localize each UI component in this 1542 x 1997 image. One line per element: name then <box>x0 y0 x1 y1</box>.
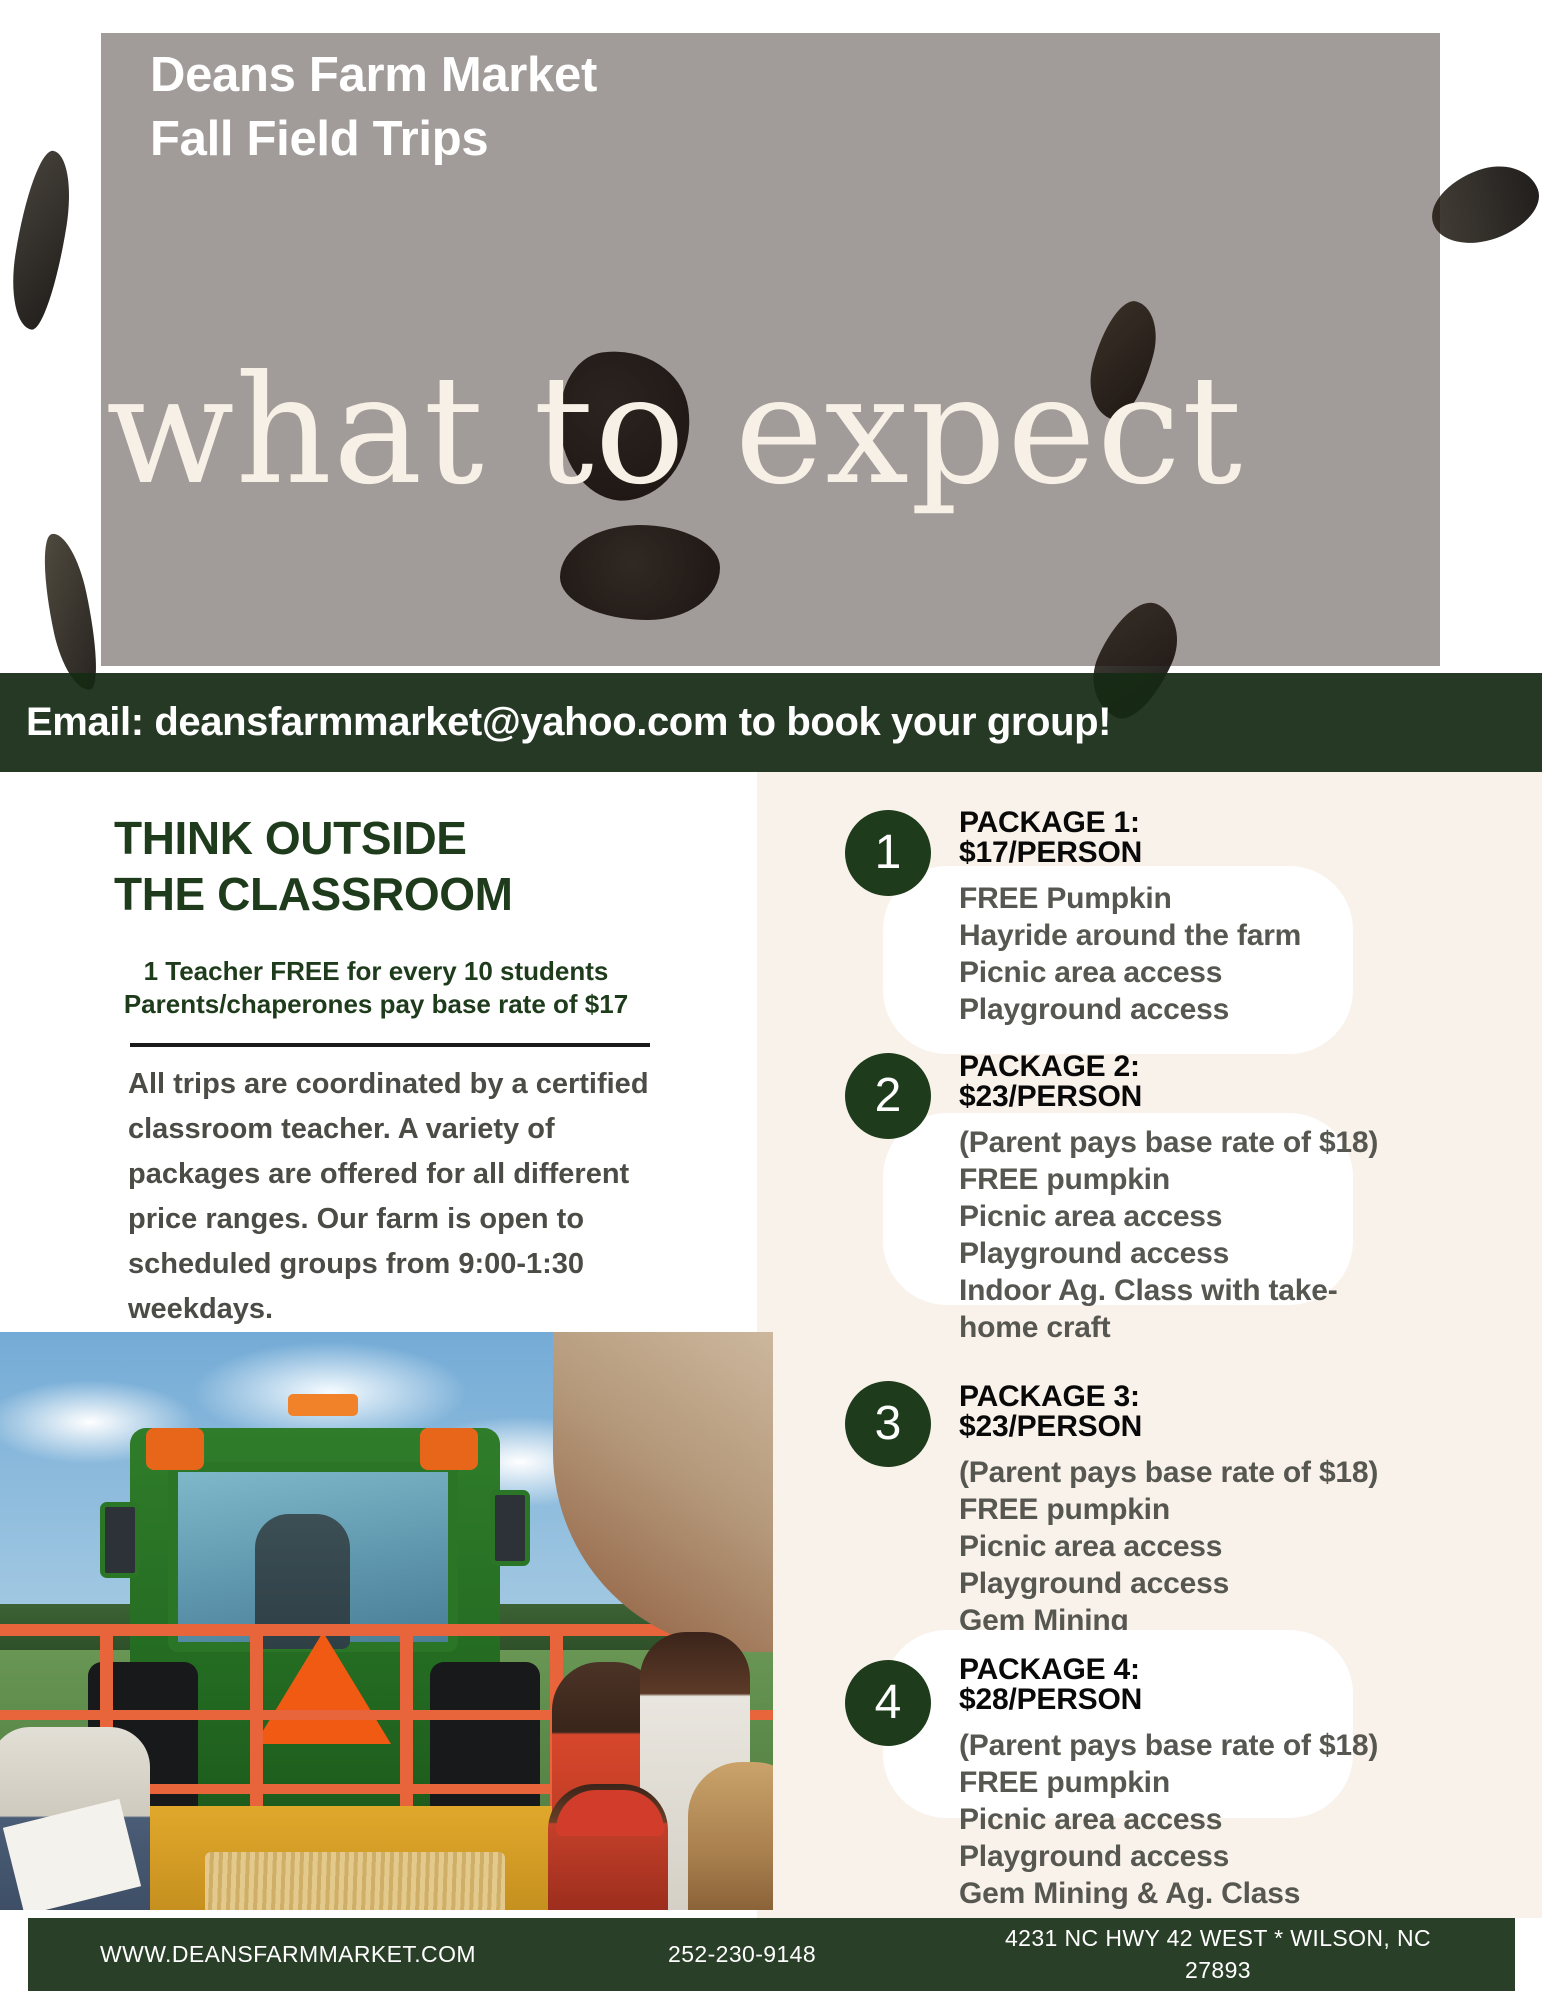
package-badge-3: 3 <box>845 1381 931 1467</box>
intro-paragraph: All trips are coordinated by a certified… <box>128 1062 668 1332</box>
think-heading-line-2: THE CLASSROOM <box>114 866 674 922</box>
package-title-2: PACKAGE 2: $23/PERSON <box>959 1052 1142 1112</box>
hayride-tractor-photo <box>0 1332 773 1910</box>
package-list-item: Gem Mining & Ag. Class <box>959 1879 1378 1916</box>
package-list-1: FREE Pumpkin Hayride around the farm Pic… <box>959 884 1301 1032</box>
tractor-mirror-left <box>100 1502 140 1578</box>
hero-title: Deans Farm Market Fall Field Trips <box>150 44 1150 171</box>
package-list-item: Playground access <box>959 1842 1378 1879</box>
tractor-lamp-right <box>420 1428 478 1470</box>
email-banner-text: Email: deansfarmmarket@yahoo.com to book… <box>0 700 1111 745</box>
footer-bar: WWW.DEANSFARMMARKET.COM 252-230-9148 423… <box>28 1918 1515 1991</box>
package-list-2: (Parent pays base rate of $18) FREE pump… <box>959 1128 1378 1350</box>
teacher-free-line: 1 Teacher FREE for every 10 students <box>76 955 676 988</box>
tractor-mirror-right <box>490 1490 530 1566</box>
think-heading-line-1: THINK OUTSIDE <box>114 810 674 866</box>
wagon-rail-post <box>400 1624 413 1806</box>
package-list-item: (Parent pays base rate of $18) <box>959 1731 1378 1768</box>
hero-title-line-1: Deans Farm Market <box>150 44 1150 108</box>
wagon-rail-post <box>250 1624 263 1806</box>
tractor-lamp-left <box>146 1428 204 1470</box>
package-badge-1: 1 <box>845 810 931 896</box>
package-list-item: Indoor Ag. Class with take- <box>959 1276 1378 1313</box>
tractor-beacon-light <box>288 1394 358 1416</box>
package-list-3: (Parent pays base rate of $18) FREE pump… <box>959 1458 1378 1643</box>
package-list-item: FREE pumpkin <box>959 1495 1378 1532</box>
red-baseball-cap <box>556 1790 664 1836</box>
think-outside-heading: THINK OUTSIDE THE CLASSROOM <box>114 810 674 922</box>
package-list-item: (Parent pays base rate of $18) <box>959 1458 1378 1495</box>
footer-address: 4231 NC HWY 42 WEST * WILSON, NC 27893 <box>978 1923 1458 1985</box>
package-list-item: Picnic area access <box>959 1532 1378 1569</box>
package-list-item: home craft <box>959 1313 1378 1350</box>
package-list-item: FREE pumpkin <box>959 1768 1378 1805</box>
package-list-item: Playground access <box>959 1569 1378 1606</box>
package-list-4: (Parent pays base rate of $18) FREE pump… <box>959 1731 1378 1916</box>
package-list-item: Picnic area access <box>959 958 1301 995</box>
hero-title-line-2: Fall Field Trips <box>150 108 1150 172</box>
package-badge-4: 4 <box>845 1660 931 1746</box>
package-badge-2: 2 <box>845 1053 931 1139</box>
package-list-item: FREE pumpkin <box>959 1165 1378 1202</box>
teacher-policy-text: 1 Teacher FREE for every 10 students Par… <box>76 955 676 1022</box>
chaperone-rate-line: Parents/chaperones pay base rate of $17 <box>76 988 676 1021</box>
rider-person <box>688 1762 773 1910</box>
footer-phone[interactable]: 252-230-9148 <box>668 1941 816 1968</box>
package-list-item: Picnic area access <box>959 1202 1378 1239</box>
footer-website[interactable]: WWW.DEANSFARMMARKET.COM <box>100 1941 476 1968</box>
package-list-item: Hayride around the farm <box>959 921 1301 958</box>
package-title-4: PACKAGE 4: $28/PERSON <box>959 1655 1142 1715</box>
package-list-item: Playground access <box>959 1239 1378 1276</box>
package-list-item: Playground access <box>959 995 1301 1032</box>
divider-rule <box>130 1043 650 1047</box>
what-to-expect-heading: what to expect <box>106 356 1436 506</box>
email-banner: Email: deansfarmmarket@yahoo.com to book… <box>0 673 1542 772</box>
package-title-1: PACKAGE 1: $17/PERSON <box>959 808 1142 868</box>
package-title-3: PACKAGE 3: $23/PERSON <box>959 1382 1142 1442</box>
hero-banner: Deans Farm Market Fall Field Trips what … <box>0 0 1542 772</box>
hay-bale <box>205 1852 505 1910</box>
package-list-item: Picnic area access <box>959 1805 1378 1842</box>
package-list-item: FREE Pumpkin <box>959 884 1301 921</box>
package-list-item: (Parent pays base rate of $18) <box>959 1128 1378 1165</box>
slow-moving-vehicle-triangle-icon <box>255 1632 391 1744</box>
